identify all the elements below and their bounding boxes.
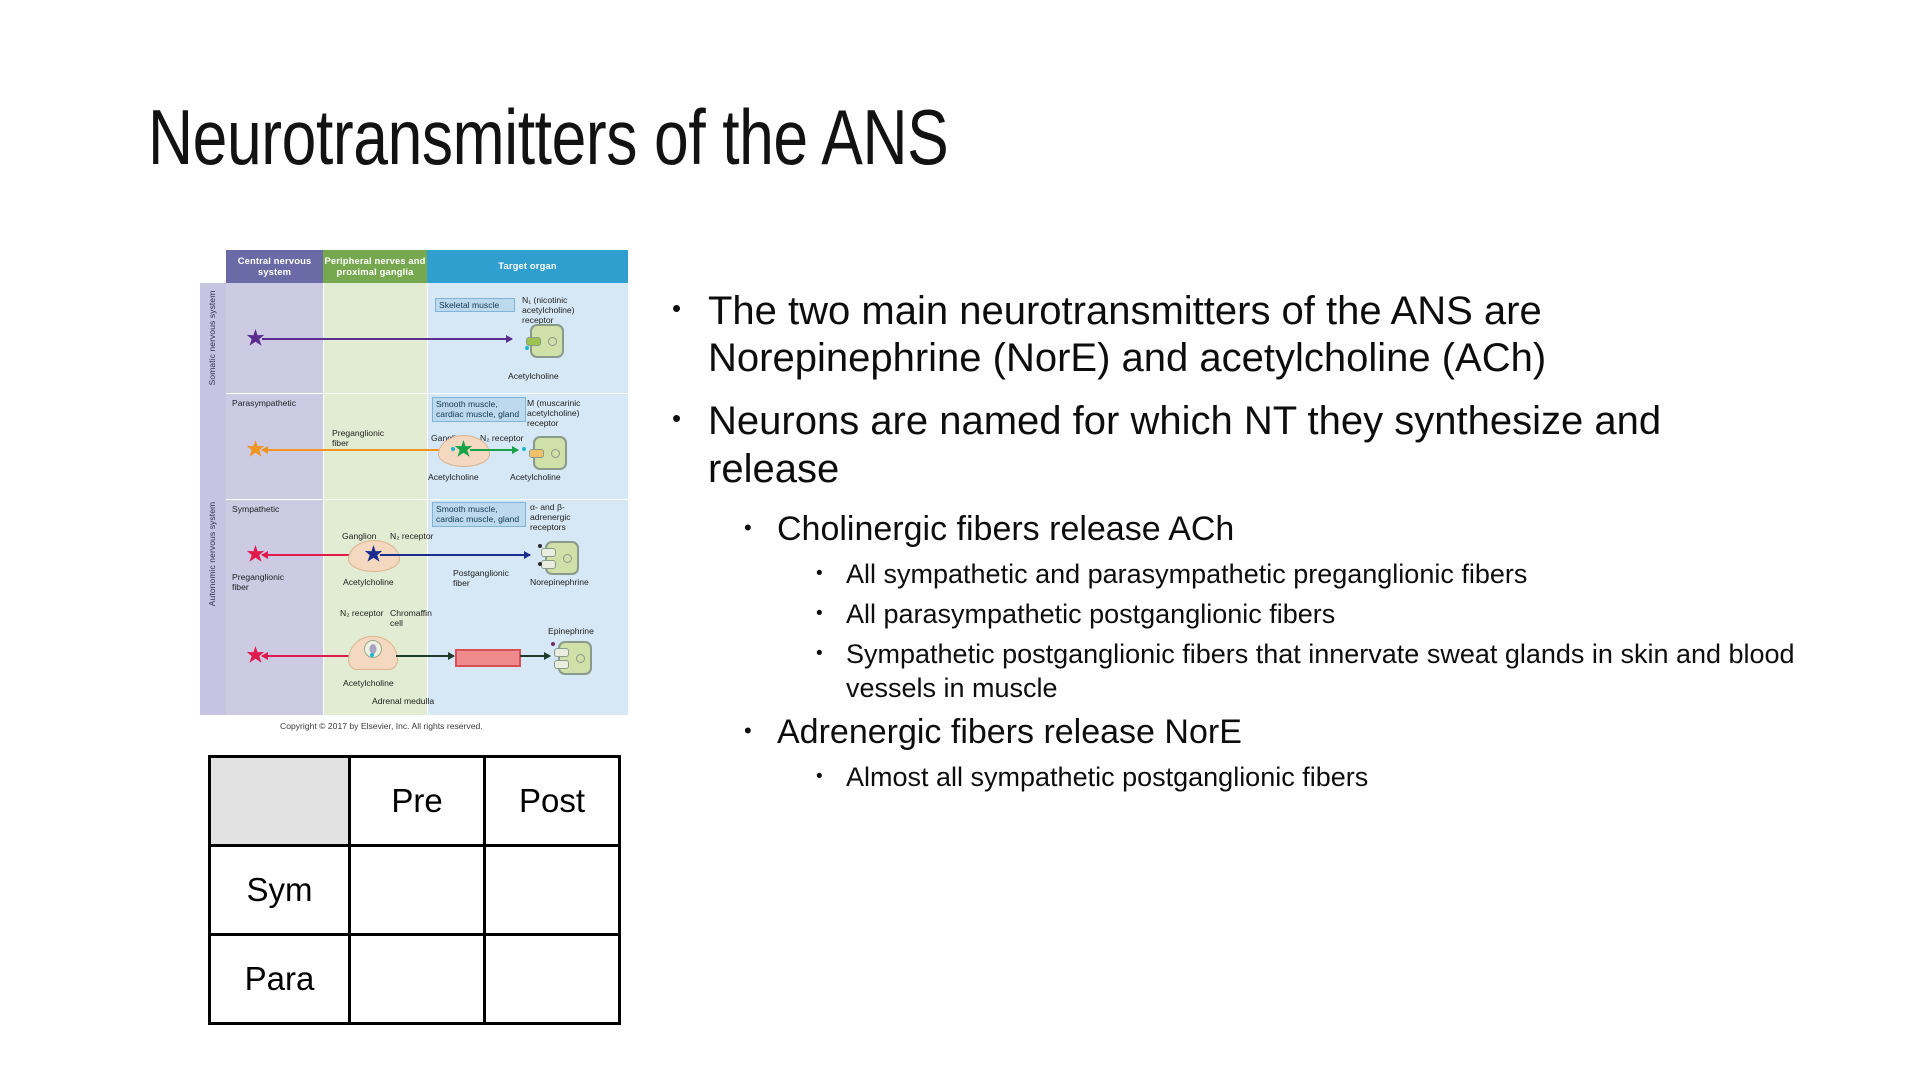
bullet-text: All parasympathetic postganglionic fiber… — [846, 598, 1802, 631]
slide-body: • The two main neurotransmitters of the … — [672, 288, 1802, 802]
figure-grid: Somatic nervous system Autonomic nervous… — [200, 250, 628, 715]
bullet-marker: • — [672, 398, 708, 438]
label-norepinephrine: Norepinephrine — [530, 577, 589, 587]
label-skeletal-muscle: Skeletal muscle — [435, 298, 515, 312]
bullet-text: Cholinergic fibers release ACh — [777, 509, 1802, 550]
label-m-receptor: M (muscarinic acetylcholine) receptor — [527, 398, 593, 428]
bullet-text: Adrenergic fibers release NorE — [777, 712, 1802, 753]
bullet-text: Almost all sympathetic postganglionic fi… — [846, 761, 1802, 794]
ans-neurotransmitter-figure: Somatic nervous system Autonomic nervous… — [200, 250, 628, 723]
adrenal-to-vessel-arrow — [396, 655, 454, 657]
bullet-marker: • — [744, 712, 777, 750]
label-smooth-muscle-para: Smooth muscle, cardiac muscle, gland — [432, 397, 526, 422]
acetylcholine-dot-somatic — [525, 346, 529, 350]
table-header-post: Post — [485, 757, 620, 846]
adrenergic-receptor-icon-b — [554, 660, 569, 669]
page-title: Neurotransmitters of the ANS — [148, 98, 948, 176]
n1-receptor-icon — [526, 337, 541, 346]
figure-header-target: Target organ — [427, 250, 628, 283]
label-n2-receptor-para: N₂ receptor — [480, 433, 523, 443]
figure-copyright: Copyright © 2017 by Elsevier, Inc. All r… — [280, 721, 483, 731]
norepinephrine-dot-2 — [538, 562, 542, 566]
para-target-cell — [533, 436, 567, 470]
label-acetylcholine-somatic: Acetylcholine — [508, 371, 559, 381]
bullet-item: • Almost all sympathetic postganglionic … — [816, 761, 1802, 794]
label-n2-receptor-symp: N₂ receptor — [390, 531, 433, 541]
norepinephrine-dot-1 — [538, 544, 542, 548]
label-acetylcholine-symp: Acetylcholine — [343, 577, 394, 587]
label-acetylcholine-para-target: Acetylcholine — [510, 472, 561, 482]
bullet-text: All sympathetic and parasympathetic preg… — [846, 558, 1802, 591]
label-postganglionic-fiber-symp: Postganglionic fiber — [453, 568, 515, 588]
bullet-marker: • — [672, 288, 708, 328]
table-corner-cell — [210, 757, 350, 846]
para-postganglionic-arrow — [470, 449, 518, 451]
somatic-arrow — [262, 338, 512, 340]
table-header-row: Pre Post — [210, 757, 620, 846]
table-row: Para — [210, 935, 620, 1024]
table-row-label-para: Para — [210, 935, 350, 1024]
row-label-sympathetic: Sympathetic — [232, 504, 279, 514]
label-preganglionic-fiber-para: Preganglionic fiber — [332, 428, 392, 448]
bullet-marker: • — [816, 761, 846, 794]
bullet-text: The two main neurotransmitters of the AN… — [708, 288, 1802, 382]
label-acetylcholine-para-ganglion: Acetylcholine — [428, 472, 479, 482]
table-row: Sym — [210, 846, 620, 935]
bullet-marker: • — [816, 558, 846, 591]
acetylcholine-dot-para-ganglion — [451, 447, 455, 451]
label-adrenal-medulla: Adrenal medulla — [372, 696, 434, 706]
cell-nucleus-icon — [576, 654, 585, 663]
cell-nucleus-icon — [563, 554, 572, 563]
divider-para-symp — [226, 499, 628, 500]
para-preganglionic-arrow — [262, 449, 460, 451]
table-cell-para-post[interactable] — [485, 935, 620, 1024]
cell-nucleus-icon — [551, 449, 560, 458]
label-n1-receptor: N₁ (nicotinic acetylcholine) receptor — [522, 295, 594, 325]
adrenergic-receptor-icon-a — [554, 648, 569, 657]
acetylcholine-dot-adrenal — [370, 653, 374, 657]
cell-nucleus-icon — [548, 337, 557, 346]
label-preganglionic-fiber-symp: Preganglionic fiber — [232, 572, 292, 592]
vessel-to-target-arrow — [520, 655, 550, 657]
row-group-autonomic: Autonomic nervous system — [200, 393, 227, 715]
label-acetylcholine-adrenal: Acetylcholine — [343, 678, 394, 688]
acetylcholine-dot-para-target — [522, 447, 526, 451]
bullet-item: • All sympathetic and parasympathetic pr… — [816, 558, 1802, 591]
bullet-item: • Neurons are named for which NT they sy… — [672, 398, 1802, 492]
bullet-text: Sympathetic postganglionic fibers that i… — [846, 638, 1802, 705]
label-smooth-muscle-symp: Smooth muscle, cardiac muscle, gland — [432, 502, 526, 527]
row-group-somatic-label: Somatic nervous system — [208, 291, 218, 386]
bullet-item: • All parasympathetic postganglionic fib… — [816, 598, 1802, 631]
adrenal-target-cell — [558, 641, 592, 675]
table-cell-para-pre[interactable] — [350, 935, 485, 1024]
bullet-marker: • — [744, 509, 777, 547]
divider-somatic-autonomic — [226, 393, 628, 394]
pre-post-table: Pre Post Sym Para — [208, 755, 621, 1025]
table-row-label-sym: Sym — [210, 846, 350, 935]
bullet-item: • Sympathetic postganglionic fibers that… — [816, 638, 1802, 705]
beta-adrenergic-receptor-icon — [541, 560, 556, 569]
bullet-item: • Cholinergic fibers release ACh — [744, 509, 1802, 550]
row-label-parasympathetic: Parasympathetic — [232, 398, 296, 408]
label-adrenergic-receptors: α- and β- adrenergic receptors — [530, 502, 594, 532]
label-n2-receptor-adrenal: N₂ receptor — [340, 608, 383, 618]
row-group-somatic: Somatic nervous system — [200, 283, 227, 393]
table-cell-sym-pre[interactable] — [350, 846, 485, 935]
bullet-text: Neurons are named for which NT they synt… — [708, 398, 1802, 492]
bullet-item: • The two main neurotransmitters of the … — [672, 288, 1802, 382]
row-group-autonomic-label: Autonomic nervous system — [208, 502, 218, 606]
somatic-target-cell — [530, 324, 564, 358]
symp-postganglionic-arrow — [380, 554, 530, 556]
m-receptor-icon — [529, 449, 544, 458]
figure-header-cns: Central nervous system — [226, 250, 323, 283]
alpha-adrenergic-receptor-icon — [541, 548, 556, 557]
bullet-marker: • — [816, 638, 846, 671]
symp-target-cell — [545, 541, 579, 575]
bullet-marker: • — [816, 598, 846, 631]
left-column: Somatic nervous system Autonomic nervous… — [200, 250, 630, 723]
bullet-item: • Adrenergic fibers release NorE — [744, 712, 1802, 753]
label-chromaffin-cell: Chromaffin cell — [390, 608, 436, 628]
label-epinephrine: Epinephrine — [548, 626, 594, 636]
figure-header-peripheral: Peripheral nerves and proximal ganglia — [323, 250, 427, 283]
epinephrine-dot — [551, 642, 555, 646]
table-cell-sym-post[interactable] — [485, 846, 620, 935]
table-header-pre: Pre — [350, 757, 485, 846]
blood-vessel — [455, 649, 521, 667]
